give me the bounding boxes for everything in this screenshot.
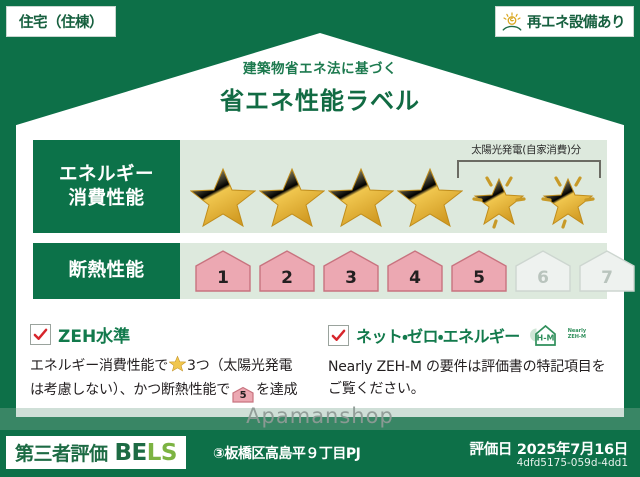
label-title-block: 建築物省エネ法に基づく 省エネ性能ラベル — [0, 57, 640, 116]
insulation-grade-3: 3 — [322, 248, 380, 294]
energy-performance-key: エネルギー 消費性能 — [33, 140, 180, 233]
label-footer: 第三者評価 BELS ③板橋区高島平９丁目PJ 評価日 2025年7月16日 4… — [0, 430, 640, 477]
insulation-grade-7: 7 — [578, 248, 636, 294]
nearly-zeh-m-caption-line2: ZEH-M — [568, 334, 586, 340]
insulation-grade-1-label: 1 — [217, 268, 229, 288]
zeh-body-part1: エネルギー消費性能で — [30, 358, 168, 374]
inline-grade-value: 5 — [232, 386, 254, 405]
renewable-equipment-label: 再エネ設備あり — [527, 11, 625, 32]
insulation-performance-key: 断熱性能 — [33, 243, 180, 299]
zeh-standard-body: エネルギー消費性能で3つ（太陽光発電 は考慮しない）、かつ断熱性能で5を達成 — [30, 355, 316, 403]
star-2 — [259, 165, 325, 229]
net-zero-energy-header: ネット・ゼロ・エネルギー H-M Nearly ZEH-M — [328, 322, 614, 348]
insulation-grade-6-label: 6 — [537, 268, 549, 288]
net-zero-energy-body: Nearly ZEH-M の要件は評価書の特記項目をご覧ください。 — [328, 356, 614, 400]
zeh-standard-checkbox[interactable] — [30, 324, 51, 345]
insulation-performance-row: 断熱性能 1 2 3 4 — [33, 243, 607, 299]
star-3 — [328, 165, 394, 229]
net-zero-energy-title: ネット・ゼロ・エネルギー — [356, 323, 520, 347]
insulation-grade-2-label: 2 — [281, 268, 293, 288]
property-address: ③板橋区高島平９丁目PJ — [213, 443, 360, 463]
energy-performance-value: 太陽光発電(自家消費)分 — [180, 140, 607, 233]
renewable-equipment-badge: 再エネ設備あり — [495, 6, 634, 37]
zeh-standard-header: ZEH水準 — [30, 322, 316, 347]
insulation-grade-1: 1 — [194, 248, 252, 294]
zeh-body-part2: は考慮しない）、かつ断熱性能で — [30, 382, 230, 398]
insulation-grade-5: 5 — [450, 248, 508, 294]
watermark-text: Apamanshop — [0, 404, 640, 428]
sun-icon — [501, 12, 523, 32]
house-type-label: 住宅（住棟） — [19, 11, 103, 32]
star-rating — [190, 165, 601, 229]
title-subtitle: 建築物省エネ法に基づく — [0, 57, 640, 77]
insulation-grade-7-label: 7 — [601, 268, 613, 288]
insulation-grade-3-label: 3 — [345, 268, 357, 288]
energy-performance-row: エネルギー 消費性能 太陽光発電(自家消費)分 — [33, 140, 607, 233]
insulation-key-label: 断熱性能 — [68, 259, 144, 282]
bels-logo-part2: LS — [147, 440, 177, 466]
bels-badge: 第三者評価 BELS — [6, 436, 186, 469]
inline-grade-house-icon: 5 — [232, 386, 254, 403]
energy-key-line1: エネルギー — [59, 163, 154, 186]
solar-share-note: 太陽光発電(自家消費)分 — [451, 142, 601, 157]
bels-logo: BELS — [115, 440, 177, 466]
insulation-grade-scale: 1 2 3 4 5 — [194, 248, 636, 294]
zeh-body-star-text: 3つ（太陽光発電 — [187, 358, 292, 374]
insulation-grade-4-label: 4 — [409, 268, 421, 288]
evaluation-date: 評価日 2025年7月16日 — [470, 438, 628, 459]
insulation-performance-value: 1 2 3 4 5 — [180, 243, 607, 299]
star-4 — [397, 165, 463, 229]
zeh-body-part3: を達成 — [256, 382, 297, 398]
bels-jp-label: 第三者評価 — [15, 439, 108, 466]
title-main: 省エネ性能ラベル — [0, 81, 640, 116]
zeh-standard-section: ZEH水準 エネルギー消費性能で3つ（太陽光発電 は考慮しない）、かつ断熱性能で… — [30, 322, 316, 403]
zeh-standard-title: ZEH水準 — [58, 322, 130, 347]
net-zero-energy-section: ネット・ゼロ・エネルギー H-M Nearly ZEH-M Nearly ZEH… — [328, 322, 614, 400]
inline-star-icon — [169, 355, 186, 379]
nearly-zeh-m-caption: Nearly ZEH-M — [568, 329, 586, 341]
energy-performance-label: 住宅（住棟） 再エネ設備あり 建築物省エネ法に基づく 省エネ性能ラベル — [0, 0, 640, 477]
bels-logo-part1: BE — [115, 440, 147, 466]
insulation-grade-6: 6 — [514, 248, 572, 294]
star-6-solar — [535, 165, 601, 229]
insulation-grade-2: 2 — [258, 248, 316, 294]
star-1 — [190, 165, 256, 229]
evaluation-id: 4dfd5175-059d-4dd1 — [517, 457, 628, 469]
insulation-grade-4: 4 — [386, 248, 444, 294]
svg-text:H-M: H-M — [536, 334, 554, 343]
nearly-zeh-m-logo-icon: H-M — [527, 322, 561, 348]
star-5-solar — [466, 165, 532, 229]
energy-key-line2: 消費性能 — [68, 187, 144, 210]
net-zero-energy-checkbox[interactable] — [328, 325, 349, 346]
house-type-badge: 住宅（住棟） — [6, 6, 116, 37]
insulation-grade-5-label: 5 — [473, 268, 485, 288]
